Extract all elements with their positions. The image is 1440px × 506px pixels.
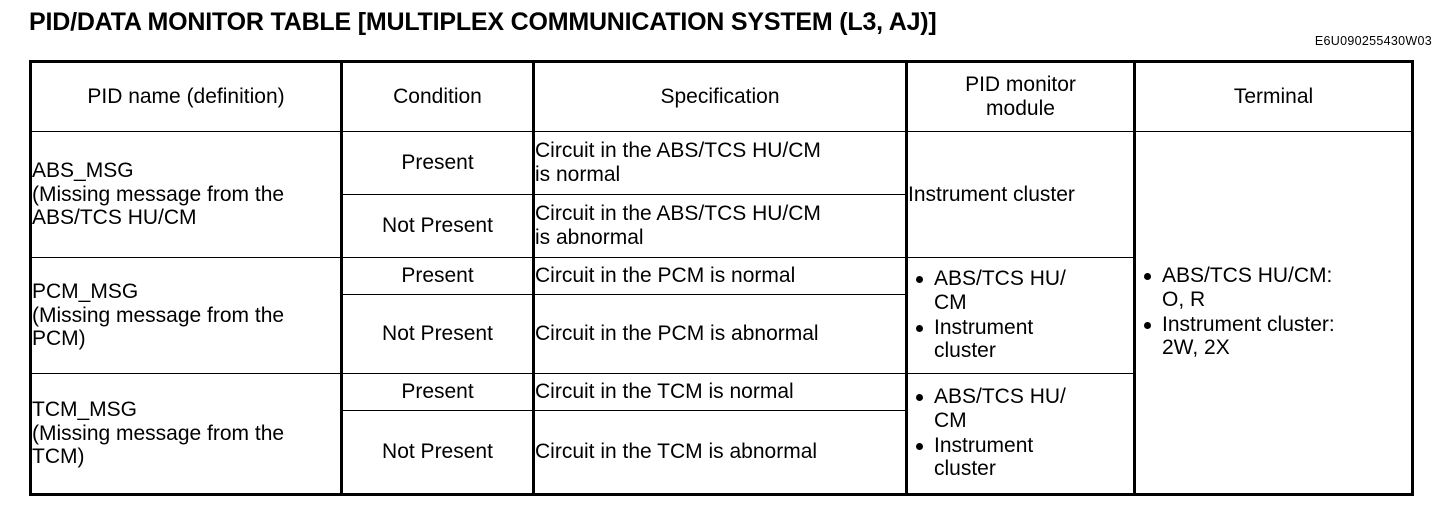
cell-condition-abs-present: Present — [342, 132, 534, 195]
table-row: ABS_MSG (Missing message from the ABS/TC… — [31, 132, 1413, 195]
list-item: ABS/TCS HU/CM: O, R — [1162, 264, 1411, 312]
cell-pid-name-abs: ABS_MSG (Missing message from the ABS/TC… — [31, 132, 342, 258]
pid-data-monitor-table: PID name (definition) Condition Specific… — [29, 60, 1414, 496]
cell-specification-abs-present: Circuit in the ABS/TCS HU/CM is normal — [534, 132, 907, 195]
terminal-bullet-list: ABS/TCS HU/CM: O, R Instrument cluster: … — [1136, 264, 1411, 361]
cell-terminal: ABS/TCS HU/CM: O, R Instrument cluster: … — [1135, 132, 1413, 495]
list-item: Instrument cluster — [934, 434, 1133, 482]
document-reference-code: E6U090255430W03 — [1315, 34, 1432, 48]
table-header-row: PID name (definition) Condition Specific… — [31, 62, 1413, 132]
column-header-terminal: Terminal — [1135, 62, 1413, 132]
list-item: ABS/TCS HU/ CM — [934, 267, 1133, 315]
column-header-pid-name: PID name (definition) — [31, 62, 342, 132]
pid-monitor-module-bullet-list: ABS/TCS HU/ CM Instrument cluster — [908, 385, 1133, 482]
cell-pid-monitor-module-abs: Instrument cluster — [907, 132, 1135, 258]
cell-condition-tcm-present: Present — [342, 374, 534, 411]
cell-condition-abs-not-present: Not Present — [342, 195, 534, 258]
cell-specification-abs-not-present: Circuit in the ABS/TCS HU/CM is abnormal — [534, 195, 907, 258]
cell-specification-tcm-not-present: Circuit in the TCM is abnormal — [534, 411, 907, 495]
cell-pid-monitor-module-pcm: ABS/TCS HU/ CM Instrument cluster — [907, 258, 1135, 374]
cell-pid-monitor-module-tcm: ABS/TCS HU/ CM Instrument cluster — [907, 374, 1135, 495]
list-item: Instrument cluster: 2W, 2X — [1162, 313, 1411, 361]
list-item: ABS/TCS HU/ CM — [934, 385, 1133, 433]
cell-pid-name-tcm: TCM_MSG (Missing message from the TCM) — [31, 374, 342, 495]
cell-specification-tcm-present: Circuit in the TCM is normal — [534, 374, 907, 411]
page-title: PID/DATA MONITOR TABLE [MULTIPLEX COMMUN… — [29, 8, 937, 37]
column-header-specification: Specification — [534, 62, 907, 132]
column-header-pid-monitor-module: PID monitor module — [907, 62, 1135, 132]
cell-condition-pcm-not-present: Not Present — [342, 295, 534, 374]
list-item: Instrument cluster — [934, 316, 1133, 364]
cell-condition-pcm-present: Present — [342, 258, 534, 295]
cell-pid-name-pcm: PCM_MSG (Missing message from the PCM) — [31, 258, 342, 374]
column-header-condition: Condition — [342, 62, 534, 132]
cell-specification-pcm-present: Circuit in the PCM is normal — [534, 258, 907, 295]
pid-monitor-module-bullet-list: ABS/TCS HU/ CM Instrument cluster — [908, 267, 1133, 364]
cell-condition-tcm-not-present: Not Present — [342, 411, 534, 495]
cell-specification-pcm-not-present: Circuit in the PCM is abnormal — [534, 295, 907, 374]
